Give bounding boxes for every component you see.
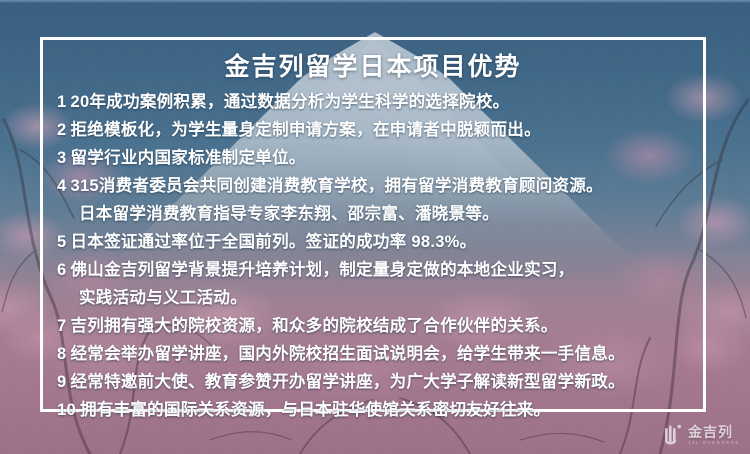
list-item-text: 佛山金吉列留学背景提升培养计划，制定量身定做的本地企业实习， xyxy=(70,261,574,279)
brand-name-cn: 金吉列 xyxy=(688,425,740,439)
list-item-text: 经常特邀前大使、教育参赞开办留学讲座，为广大学子解读新型留学新政。 xyxy=(70,373,624,391)
top-edge-line xyxy=(0,0,750,3)
page-title: 金吉列留学日本项目优势 xyxy=(57,50,689,84)
list-item-number: 3 xyxy=(57,149,66,167)
list-item-continuation: 实践活动与义工活动。 xyxy=(57,284,689,312)
list-item: 4315消费者委员会共同创建消费教育学校，拥有留学消费教育顾问资源。 xyxy=(57,172,689,200)
list-item: 8经常会举办留学讲座，国内外院校招生面试说明会，给学生带来一手信息。 xyxy=(57,340,689,368)
list-item-text: 20年成功案例积累，通过数据分析为学生科学的选择院校。 xyxy=(70,93,509,111)
list-item-text: 拥有丰富的国际关系资源，与日本驻华使馆关系密切友好往来。 xyxy=(80,401,550,419)
list-item-number: 8 xyxy=(57,345,66,363)
list-item: 2拒绝模板化，为学生量身定制申请方案，在申请者中脱颖而出。 xyxy=(57,116,689,144)
brand-watermark: 金吉列 JJL OVERSEAS xyxy=(664,424,740,446)
list-item-number: 2 xyxy=(57,121,66,139)
content-frame: 金吉列留学日本项目优势 120年成功案例积累，通过数据分析为学生科学的选择院校。… xyxy=(40,37,706,412)
list-item-number: 9 xyxy=(57,373,66,391)
list-item-text: 实践活动与义工活动。 xyxy=(79,289,247,307)
list-item: 5日本签证通过率位于全国前列。签证的成功率 98.3%。 xyxy=(57,228,689,256)
brand-name-en: JJL OVERSEAS xyxy=(688,441,740,446)
list-item: 120年成功案例积累，通过数据分析为学生科学的选择院校。 xyxy=(57,88,689,116)
list-item-number: 10 xyxy=(57,401,76,419)
list-item-text: 吉列拥有强大的院校资源，和众多的院校结成了合作伙伴的关系。 xyxy=(70,317,557,335)
list-item-number: 7 xyxy=(57,317,66,335)
list-item-text: 拒绝模板化，为学生量身定制申请方案，在申请者中脱颖而出。 xyxy=(70,121,540,139)
list-item-number: 5 xyxy=(57,233,66,251)
list-item-number: 1 xyxy=(57,93,66,111)
watermark-text: 金吉列 JJL OVERSEAS xyxy=(688,425,740,446)
list-item: 7吉列拥有强大的院校资源，和众多的院校结成了合作伙伴的关系。 xyxy=(57,312,689,340)
list-item: 3留学行业内国家标准制定单位。 xyxy=(57,144,689,172)
jjl-logo-mark-icon xyxy=(664,424,683,446)
list-item: 9经常特邀前大使、教育参赞开办留学讲座，为广大学子解读新型留学新政。 xyxy=(57,368,689,396)
list-item-text: 留学行业内国家标准制定单位。 xyxy=(70,149,305,167)
list-item-text: 日本签证通过率位于全国前列。签证的成功率 98.3%。 xyxy=(70,233,476,251)
list-item-continuation: 日本留学消费教育指导专家李东翔、邵宗富、潘晓景等。 xyxy=(57,200,689,228)
poster-canvas: 金吉列留学日本项目优势 120年成功案例积累，通过数据分析为学生科学的选择院校。… xyxy=(0,0,750,454)
list-item-text: 日本留学消费教育指导专家李东翔、邵宗富、潘晓景等。 xyxy=(79,205,499,223)
list-item: 10拥有丰富的国际关系资源，与日本驻华使馆关系密切友好往来。 xyxy=(57,396,689,424)
advantages-list: 120年成功案例积累，通过数据分析为学生科学的选择院校。 2拒绝模板化，为学生量… xyxy=(57,88,689,424)
list-item-number: 6 xyxy=(57,261,66,279)
list-item-text: 315消费者委员会共同创建消费教育学校，拥有留学消费教育顾问资源。 xyxy=(70,177,602,195)
list-item: 6佛山金吉列留学背景提升培养计划，制定量身定做的本地企业实习， xyxy=(57,256,689,284)
list-item-text: 经常会举办留学讲座，国内外院校招生面试说明会，给学生带来一手信息。 xyxy=(70,345,624,363)
list-item-number: 4 xyxy=(57,177,66,195)
